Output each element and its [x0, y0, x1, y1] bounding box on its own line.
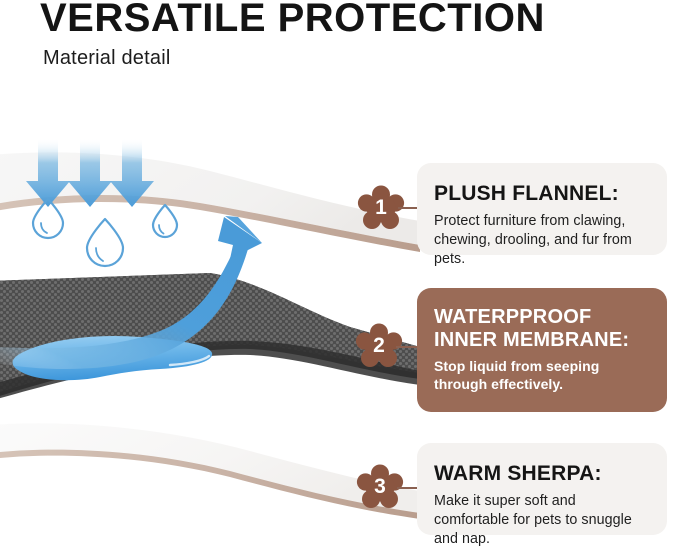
water-droplet-icon — [153, 205, 177, 237]
layer-card-warm-sherpa[interactable]: WARM SHERPA: Make it super soft and comf… — [417, 443, 667, 535]
liquid-down-arrows — [26, 139, 154, 207]
layer-card-title: WARM SHERPA: — [434, 461, 650, 486]
layer-card-body: Protect furniture from clawing, chewing,… — [434, 212, 650, 269]
layer-card-plush-flannel[interactable]: PLUSH FLANNEL: Protect furniture from cl… — [417, 163, 667, 255]
layer-card-title: PLUSH FLANNEL: — [434, 181, 650, 206]
water-droplet-icon — [87, 219, 123, 266]
layer-card-body: Stop liquid from seeping through effecti… — [434, 357, 650, 393]
layer-card-body: Make it super soft and comfortable for p… — [434, 492, 650, 549]
layer-card-waterproof-membrane[interactable]: WATERPPROOF INNER MEMBRANE: Stop liquid … — [417, 288, 667, 412]
page-subtitle: Material detail — [43, 44, 171, 72]
water-droplet-icons — [33, 199, 177, 266]
page-header: VERSATILE PROTECTION Material detail — [0, 0, 679, 95]
layer-card-title: WATERPPROOF INNER MEMBRANE: — [434, 306, 650, 352]
page-title: VERSATILE PROTECTION — [40, 0, 545, 42]
